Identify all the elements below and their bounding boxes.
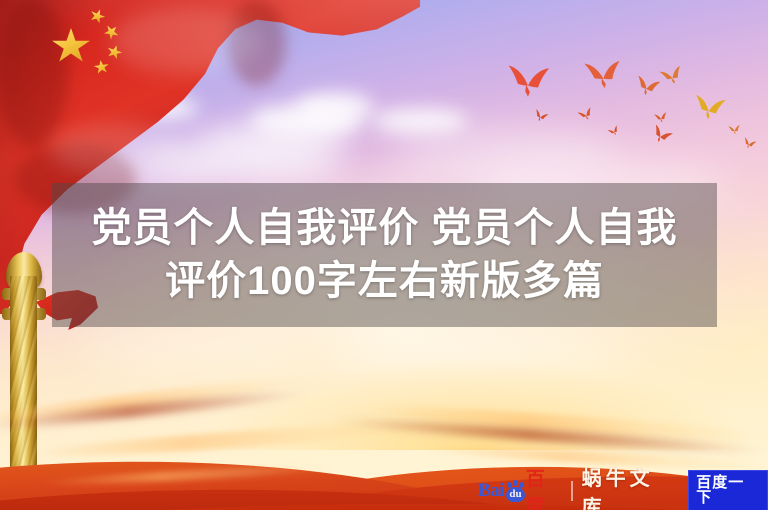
bird-icon-2 — [581, 55, 625, 95]
baidu-paw-icon: du — [503, 480, 528, 502]
title-overlay-plate: 党员个人自我评价 党员个人自我 评价100字左右新版多篇 — [52, 183, 717, 327]
bird-icon-10 — [727, 123, 742, 137]
baidu-paw-label: du — [509, 489, 521, 500]
baidu-logo[interactable]: Bai du 百度 — [478, 480, 562, 502]
baidu-chinese-text: 百度 — [526, 464, 562, 510]
page-title-line-2: 评价100字左右新版多篇 — [165, 255, 604, 308]
site-brand-label: 蜗牛文库 — [582, 462, 678, 510]
page-title-line-1: 党员个人自我评价 党员个人自我 — [91, 202, 677, 255]
bird-icon-5 — [691, 92, 728, 124]
banner-canvas: 党员个人自我评价 党员个人自我 评价100字左右新版多篇 Bai du 百度 蜗… — [0, 0, 768, 510]
watermark-bar: Bai du 百度 蜗牛文库 百度一下 — [478, 477, 768, 504]
baidu-latin-text: Bai — [478, 480, 504, 502]
bird-icon-1 — [505, 62, 551, 102]
watermark-divider — [571, 481, 573, 501]
baidu-search-button[interactable]: 百度一下 — [688, 470, 768, 510]
